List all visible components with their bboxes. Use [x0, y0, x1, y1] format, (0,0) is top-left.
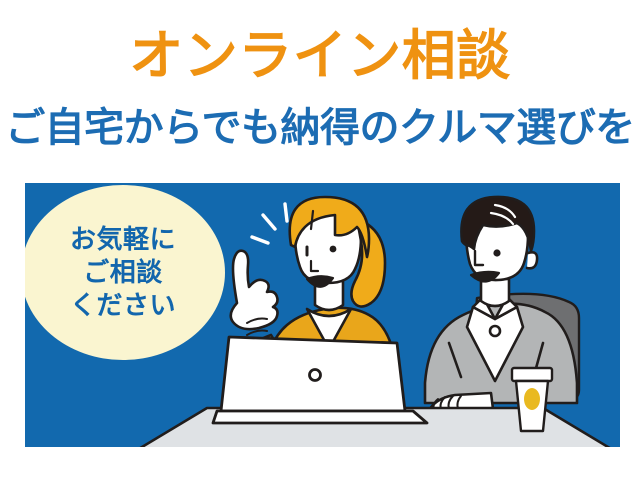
- illustration-panel: お気軽に ご相談 ください: [25, 183, 620, 447]
- page-title: オンライン相談: [0, 26, 640, 86]
- badge-line-2: ご相談: [83, 256, 163, 289]
- badge-line-1: お気軽に: [70, 223, 176, 256]
- badge-text: お気軽に ご相談 ください: [25, 185, 225, 360]
- badge-line-3: ください: [70, 289, 176, 322]
- page-subtitle: ご自宅からでも納得のクルマ選びを: [0, 104, 640, 152]
- laptop: [213, 337, 427, 423]
- consultation-badge: お気軽に ご相談 ください: [25, 185, 225, 360]
- online-consultation-banner: オンライン相談 ご自宅からでも納得のクルマ選びを: [0, 0, 640, 480]
